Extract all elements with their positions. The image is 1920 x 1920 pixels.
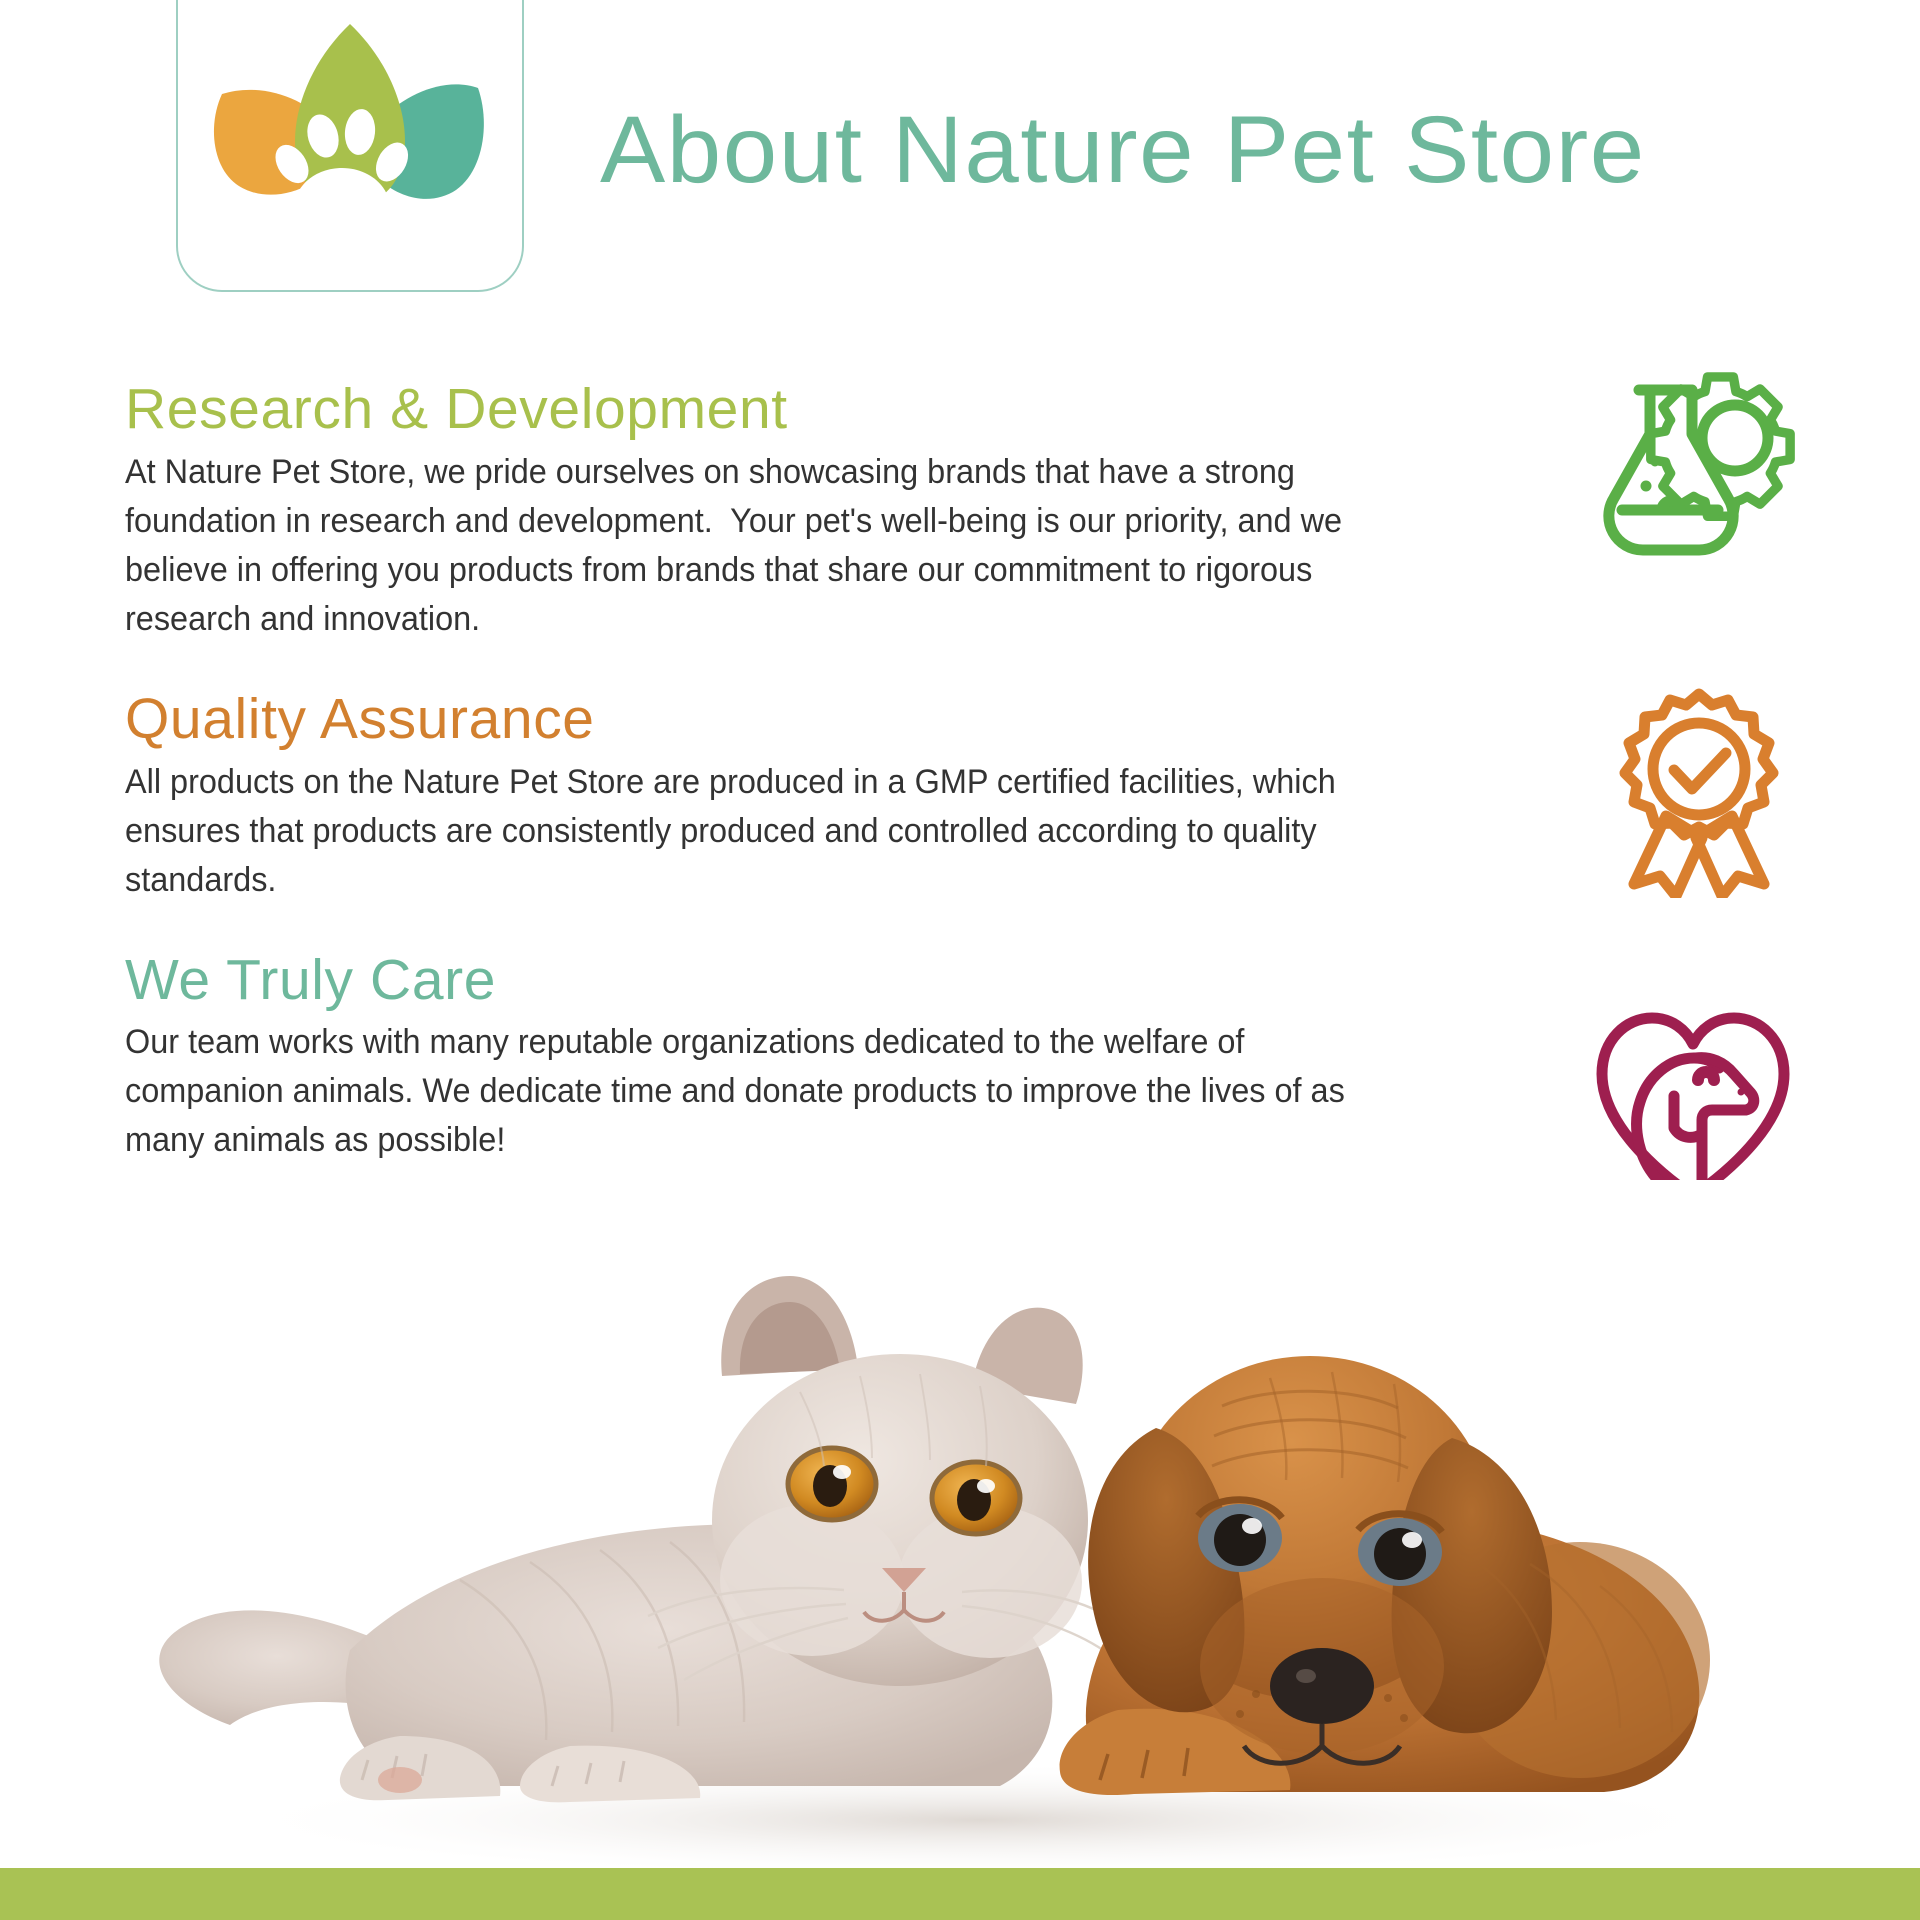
section-heading-we-truly-care: We Truly Care: [125, 949, 1525, 1013]
section-body-quality-assurance: All products on the Nature Pet Store are…: [125, 758, 1366, 905]
flask-gear-icon: [1598, 358, 1808, 568]
section-quality-assurance: Quality Assurance All products on the Na…: [125, 688, 1525, 905]
section-heading-research-development: Research & Development: [125, 378, 1525, 442]
nature-pet-store-logo: [204, 16, 496, 248]
page-header: About Nature Pet Store: [0, 0, 1920, 300]
award-ribbon-check-icon: [1598, 688, 1808, 898]
section-we-truly-care: We Truly Care Our team works with many r…: [125, 949, 1525, 1166]
about-page: About Nature Pet Store Research & Develo…: [0, 0, 1920, 1920]
section-body-research-development: At Nature Pet Store, we pride ourselves …: [125, 448, 1366, 644]
page-title: About Nature Pet Store: [600, 96, 1646, 205]
heart-dog-icon: [1588, 1000, 1798, 1210]
section-body-we-truly-care: Our team works with many reputable organ…: [125, 1018, 1366, 1165]
content-sections: Research & Development At Nature Pet Sto…: [125, 378, 1525, 1209]
section-heading-quality-assurance: Quality Assurance: [125, 688, 1525, 752]
cat-and-dog-photo: [100, 1180, 1820, 1870]
footer-accent-bar: [0, 1868, 1920, 1920]
section-research-development: Research & Development At Nature Pet Sto…: [125, 378, 1525, 644]
logo-container: [176, 0, 524, 292]
